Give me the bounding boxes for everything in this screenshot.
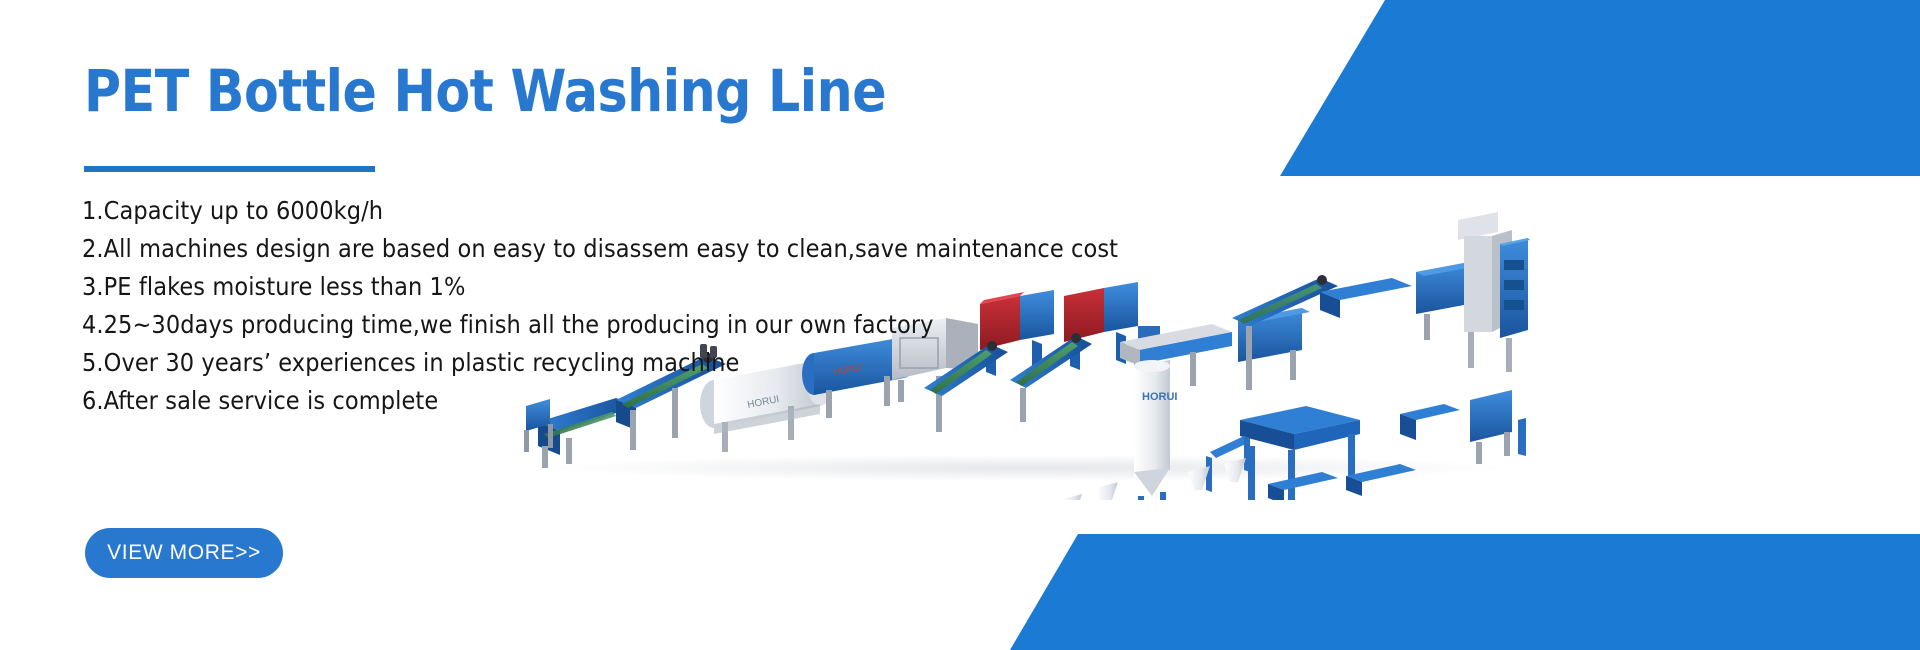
- view-more-button[interactable]: VIEW MORE>>: [85, 528, 283, 578]
- decorative-shape-top-right: [1180, 0, 1920, 176]
- feature-item-5: 5.Over 30 years’ experiences in plastic …: [82, 344, 1082, 382]
- feature-item-1: 1.Capacity up to 6000kg/h: [82, 192, 1082, 230]
- page-title: PET Bottle Hot Washing Line: [84, 57, 886, 125]
- feature-item-3: 3.PE flakes moisture less than 1%: [82, 268, 1082, 306]
- title-underline-rule: [84, 166, 375, 172]
- banner-content: PET Bottle Hot Washing Line 1.Capacity u…: [0, 0, 1100, 650]
- svg-text:HORUI: HORUI: [1142, 391, 1177, 403]
- promo-banner: HORUI HORUI: [0, 0, 1920, 650]
- decorative-shape-bottom-right: [960, 534, 1920, 650]
- feature-item-2: 2.All machines design are based on easy …: [82, 230, 1082, 268]
- feature-item-4: 4.25~30days producing time,we finish all…: [82, 306, 1082, 344]
- feature-item-6: 6.After sale service is complete: [82, 382, 1082, 420]
- feature-list: 1.Capacity up to 6000kg/h 2.All machines…: [82, 192, 1082, 420]
